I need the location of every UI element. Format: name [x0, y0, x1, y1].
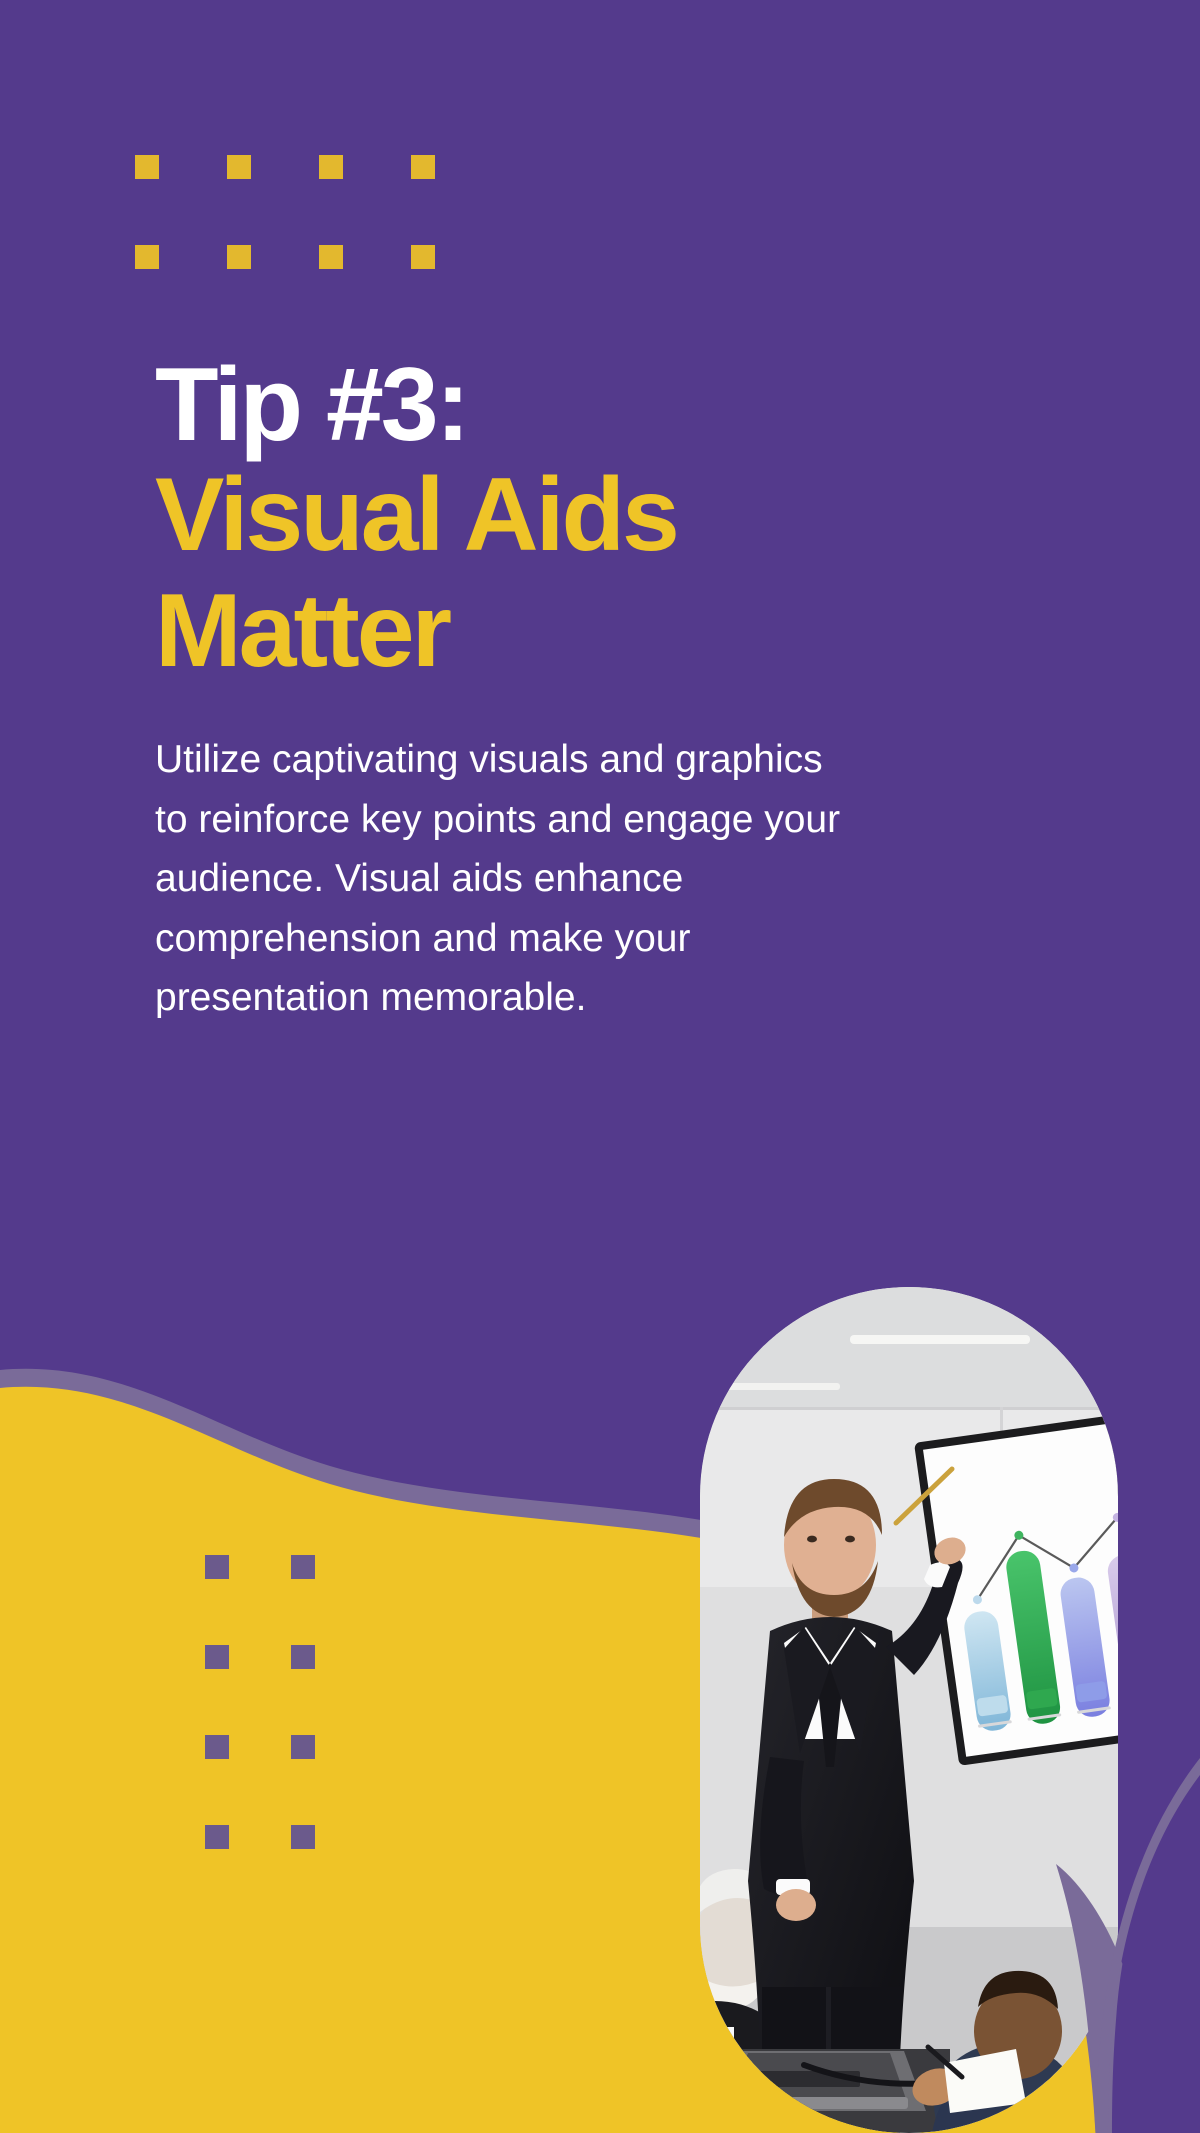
headline-main-line2: Matter [155, 573, 1105, 689]
decor-dot [411, 245, 435, 269]
decor-dot [227, 155, 251, 179]
decor-dot [205, 1555, 229, 1579]
decor-dot [205, 1645, 229, 1669]
photo-scene [700, 1287, 1118, 2133]
decor-dot [291, 1825, 315, 1849]
poster-canvas: Tip #3: Visual Aids Matter Utilize capti… [0, 0, 1200, 2133]
headline-main-line1: Visual Aids [155, 457, 1105, 573]
decor-dot [291, 1645, 315, 1669]
top-dot-grid [135, 155, 435, 269]
decor-dot [205, 1735, 229, 1759]
decor-dot [319, 155, 343, 179]
decor-dot [411, 155, 435, 179]
decor-dot [227, 245, 251, 269]
headline-group: Tip #3: Visual Aids Matter [155, 355, 1105, 690]
decor-dot [135, 155, 159, 179]
text-content-block: Tip #3: Visual Aids Matter Utilize capti… [155, 355, 1105, 1028]
decor-dot [291, 1555, 315, 1579]
decor-dot [135, 245, 159, 269]
decor-dot [291, 1735, 315, 1759]
decor-dot [205, 1825, 229, 1849]
decor-dot [319, 245, 343, 269]
bottom-dot-grid [205, 1555, 315, 1849]
photo-illustration [700, 1287, 1118, 2133]
presentation-photo [700, 1287, 1118, 2133]
headline-tip-number: Tip #3: [155, 355, 1105, 457]
body-paragraph: Utilize captivating visuals and graphics… [155, 730, 855, 1028]
